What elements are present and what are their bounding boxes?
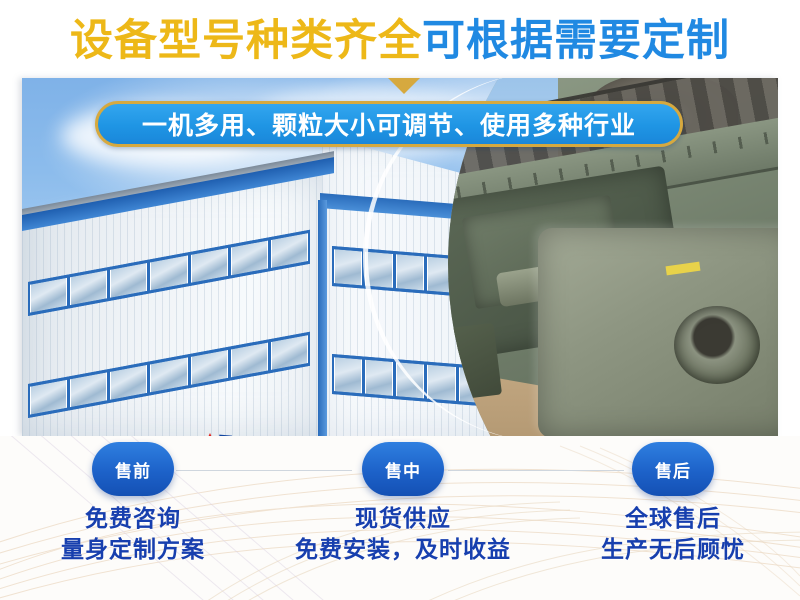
step-badge-aftersale[interactable]: 售后 bbox=[632, 442, 714, 496]
building-corner-edge bbox=[318, 200, 327, 436]
step-badge-duringsale[interactable]: 售中 bbox=[362, 442, 444, 496]
step-connector bbox=[176, 470, 352, 471]
step-badge-presale[interactable]: 售前 bbox=[92, 442, 174, 496]
step-line-1: 全球售后 bbox=[523, 504, 800, 534]
step-text-aftersale: 全球售后 生产无后顾忧 bbox=[523, 504, 800, 566]
step-line-2: 免费安装，及时收益 bbox=[253, 534, 553, 566]
promo-poster: 设备型号种类齐全可根据需要定制 bbox=[0, 0, 800, 600]
step-text-duringsale: 现货供应 免费安装，及时收益 bbox=[253, 504, 553, 566]
step-text-presale: 免费咨询 量身定制方案 bbox=[0, 504, 283, 566]
step-line-2: 量身定制方案 bbox=[0, 534, 283, 566]
step-badge-label: 售前 bbox=[115, 457, 151, 482]
step-connector bbox=[448, 470, 624, 471]
step-line-1: 现货供应 bbox=[253, 504, 553, 534]
step-line-2: 生产无后顾忧 bbox=[523, 534, 800, 566]
step-badge-label: 售后 bbox=[655, 457, 691, 482]
step-line-1: 免费咨询 bbox=[0, 504, 283, 534]
machine-output-hub bbox=[674, 306, 760, 384]
step-badge-label: 售中 bbox=[385, 457, 421, 482]
service-steps: 售前 售中 售后 免费咨询 量身定制方案 现货供应 免费安装，及时收益 全球售后… bbox=[0, 0, 800, 164]
